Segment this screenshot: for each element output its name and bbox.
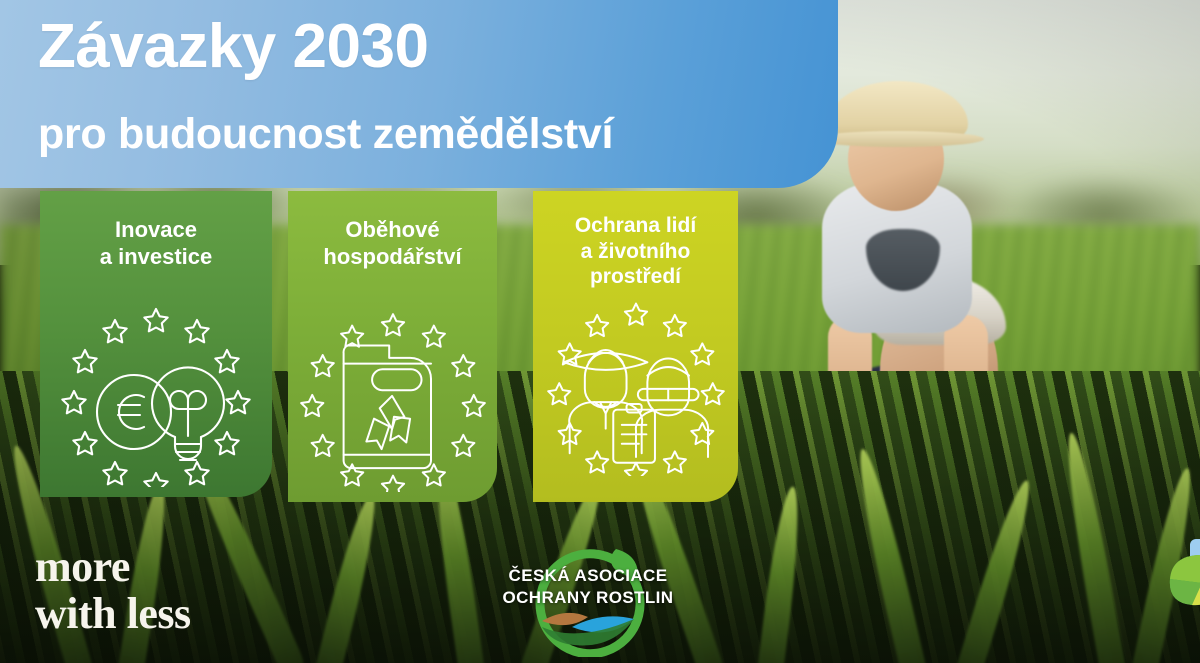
- pillar-title: Inovace a investice: [40, 217, 272, 271]
- farmer-operator-clipboard-icon: [533, 296, 738, 496]
- header-banner: Závazky 2030 pro budoucnost zemědělství: [0, 0, 838, 188]
- page-title: Závazky 2030: [38, 14, 428, 79]
- pillar-title: Ochrana lidí a životního prostředí: [533, 213, 738, 290]
- pillar-title: Oběhové hospodářství: [288, 217, 497, 271]
- poster-canvas: Závazky 2030 pro budoucnost zemědělství …: [0, 0, 1200, 663]
- tagline-line-2: with less: [35, 592, 191, 637]
- tagline-line-1: more: [35, 545, 191, 590]
- caor-name: ČESKÁ ASOCIACE OCHRANY ROSTLIN: [468, 565, 708, 609]
- pillar-card-ochrana-lidi-a-zivotniho-prostredi[interactable]: Ochrana lidí a životního prostředí: [533, 191, 738, 502]
- pillar-card-obehove-hospodarstvi[interactable]: Oběhové hospodářství: [288, 191, 497, 502]
- tagline-more-with-less: more with less: [35, 545, 191, 637]
- recycling-canister-icon: [288, 296, 497, 496]
- ecp-leaf-logo: [1162, 531, 1200, 620]
- euro-lightbulb-icon: [40, 291, 272, 491]
- pillar-card-inovace-a-investice[interactable]: Inovace a investice: [40, 191, 272, 497]
- caor-logo-block[interactable]: ČESKÁ ASOCIACE OCHRANY ROSTLIN: [468, 537, 708, 657]
- page-subtitle: pro budoucnost zemědělství: [38, 112, 613, 157]
